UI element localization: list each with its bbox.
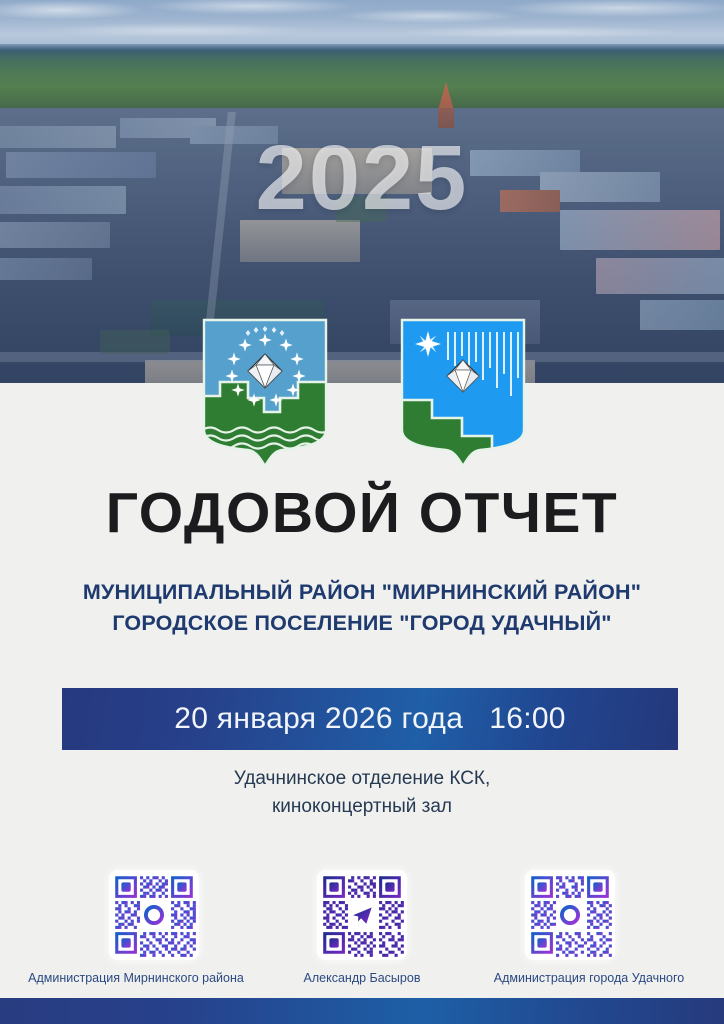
qr-cell-udachny-administration[interactable] [520, 870, 620, 980]
aerial-city-photo: 2025 [0, 0, 724, 383]
venue-block: Удачнинское отделение КСК, киноконцертны… [0, 765, 724, 820]
coat-of-arms-udachny-city [400, 318, 526, 473]
coat-of-arms-mirninsky-district [202, 318, 328, 473]
date-time-banner: 20 января 2026 года16:00 [62, 688, 678, 750]
subtitle-block: МУНИЦИПАЛЬНЫЙ РАЙОН "МИРНИНСКИЙ РАЙОН" Г… [0, 577, 724, 639]
qr-cell-aleksandr-basyrov[interactable] [312, 870, 412, 980]
annual-report-poster: 2025 [0, 0, 724, 1024]
venue-line-2: киноконцертный зал [0, 793, 724, 821]
page-title: ГОДОВОЙ ОТЧЕТ [0, 485, 724, 542]
venue-line-1: Удачнинское отделение КСК, [0, 765, 724, 793]
event-time: 16:00 [489, 702, 566, 735]
sky-region [0, 0, 724, 46]
subtitle-line-1: МУНИЦИПАЛЬНЫЙ РАЙОН "МИРНИНСКИЙ РАЙОН" [0, 577, 724, 608]
qr-code-udachny-administration[interactable] [525, 870, 615, 960]
year-overlay-2025: 2025 [0, 132, 724, 224]
qr-caption-aleksandr-basyrov: Александр Басыров [247, 971, 477, 985]
bottom-accent-bar [0, 998, 724, 1024]
subtitle-line-2: ГОРОДСКОЕ ПОСЕЛЕНИЕ "ГОРОД УДАЧНЫЙ" [0, 608, 724, 639]
qr-caption-mirninsky-administration: Администрация Мирнинского района [21, 971, 251, 985]
qr-code-aleksandr-basyrov[interactable] [317, 870, 407, 960]
qr-cell-mirninsky-administration[interactable] [104, 870, 204, 980]
qr-code-row [0, 870, 724, 980]
event-date: 20 января 2026 года [174, 702, 463, 735]
date-time-text: 20 января 2026 года16:00 [174, 702, 566, 736]
qr-code-mirninsky-administration[interactable] [109, 870, 199, 960]
qr-caption-udachny-administration: Администрация города Удачного [474, 971, 704, 985]
